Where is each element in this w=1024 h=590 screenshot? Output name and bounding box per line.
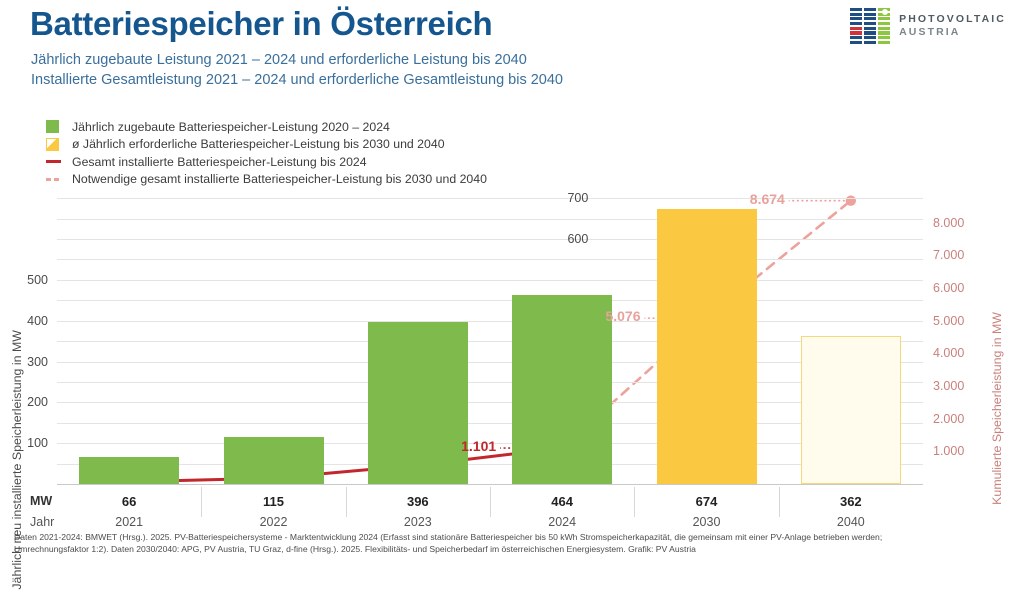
logo-cell xyxy=(878,36,890,39)
gridline xyxy=(57,239,923,240)
plot-area: 1002003004005006007001.0002.0003.0004.00… xyxy=(57,190,923,484)
logo-column-1 xyxy=(864,8,876,44)
y-tick-right-2000: 2.000 xyxy=(933,412,964,426)
gridline xyxy=(57,280,923,281)
logo-cell xyxy=(878,17,890,20)
logo-cell xyxy=(850,36,862,39)
table-cell-mw-2023: 396 xyxy=(407,494,429,509)
legend-swatch-shape xyxy=(46,120,59,133)
y-tick-left-600: 600 xyxy=(548,232,588,246)
y-tick-left-700: 700 xyxy=(548,191,588,205)
logo-text: PHOTOVOLTAIC AUSTRIA xyxy=(899,13,1006,39)
table-cell-year-2022: 2022 xyxy=(260,515,288,529)
legend-item-label: Jährlich zugebaute Batteriespeicher-Leis… xyxy=(72,120,390,134)
table-cell-year-2030: 2030 xyxy=(693,515,721,529)
logo-cell xyxy=(864,36,876,39)
legend-item-label: Gesamt installierte Batteriespeicher-Lei… xyxy=(72,155,367,169)
legend-item-2[interactable]: Gesamt installierte Batteriespeicher-Lei… xyxy=(46,153,487,171)
y-tick-right-7000: 7.000 xyxy=(933,248,964,262)
bar-2021[interactable] xyxy=(79,457,179,484)
logo-cell xyxy=(864,27,876,30)
footnote: Daten 2021-2024: BMWET (Hrsg.). 2025. PV… xyxy=(14,531,1014,555)
y-axis-right-title: Kumulierte Speicherleistung in MW xyxy=(990,312,1004,505)
y-tick-left-100: 100 xyxy=(27,436,48,450)
legend-item-label: ø Jährlich erforderliche Batteriespeiche… xyxy=(72,137,445,151)
y-tick-left-200: 200 xyxy=(27,395,48,409)
y-tick-right-8000: 8.000 xyxy=(933,216,964,230)
line-installed-cumulative xyxy=(129,448,562,482)
gridline xyxy=(57,219,923,220)
chart-legend: Jährlich zugebaute Batteriespeicher-Leis… xyxy=(46,118,487,188)
table-divider xyxy=(779,487,780,517)
y-tick-right-1000: 1.000 xyxy=(933,444,964,458)
logo-mark-icon xyxy=(850,8,890,44)
data-table: MW Jahr 66202111520223962023464202467420… xyxy=(0,484,1024,528)
gridline xyxy=(57,402,923,403)
table-cell-mw-2040: 362 xyxy=(840,494,862,509)
gridline xyxy=(57,321,923,322)
gridline xyxy=(57,341,923,342)
chart-page: Batteriespeicher in Österreich Jährlich … xyxy=(0,0,1024,561)
bar-2023[interactable] xyxy=(368,322,468,484)
logo-cell xyxy=(850,22,862,25)
logo-cell xyxy=(864,31,876,34)
gridline xyxy=(57,259,923,260)
bar-2040[interactable] xyxy=(801,336,901,484)
table-cell-year-2024: 2024 xyxy=(548,515,576,529)
row-label-mw: MW xyxy=(30,494,52,508)
table-divider xyxy=(201,487,202,517)
logo-cell xyxy=(850,31,862,34)
table-cell-mw-2021: 66 xyxy=(122,494,136,509)
gridline xyxy=(57,362,923,363)
gridline xyxy=(57,198,923,199)
logo-line-2: AUSTRIA xyxy=(899,26,1006,39)
y-tick-right-5000: 5.000 xyxy=(933,314,964,328)
gridline xyxy=(57,423,923,424)
logo-cell xyxy=(850,8,862,11)
logo-cell xyxy=(878,31,890,34)
logo-line-1: PHOTOVOLTAIC xyxy=(899,13,1006,26)
table-divider xyxy=(346,487,347,517)
bar-2030[interactable] xyxy=(657,209,757,484)
table-cell-mw-2030: 674 xyxy=(696,494,718,509)
logo-cell xyxy=(878,22,890,25)
row-label-jahr: Jahr xyxy=(30,515,54,529)
table-divider xyxy=(490,487,491,517)
table-cell-mw-2022: 115 xyxy=(263,494,284,509)
photovoltaic-austria-logo: PHOTOVOLTAIC AUSTRIA xyxy=(850,8,1006,44)
logo-sun-dot-icon xyxy=(882,9,888,15)
logo-column-0 xyxy=(850,8,862,44)
bar-2024[interactable] xyxy=(512,295,612,484)
logo-cell xyxy=(864,8,876,11)
y-tick-left-400: 400 xyxy=(27,314,48,328)
logo-cell xyxy=(878,41,890,44)
bar-2022[interactable] xyxy=(224,437,324,484)
data-label-5076: 5.076 xyxy=(605,308,640,324)
table-cell-year-2040: 2040 xyxy=(837,515,865,529)
logo-cell xyxy=(878,27,890,30)
page-title: Batteriespeicher in Österreich xyxy=(30,5,492,43)
legend-swatch-shape xyxy=(46,160,61,163)
data-label-8674: 8.674 xyxy=(750,191,785,207)
logo-cell xyxy=(850,13,862,16)
legend-swatch-line-solid-icon xyxy=(46,160,72,163)
logo-cell xyxy=(864,22,876,25)
gridline xyxy=(57,300,923,301)
data-label-1101: 1.101 xyxy=(461,438,496,454)
footnote-line-2: Umrechnungsfaktor 1:2). Daten 2030/2040:… xyxy=(14,543,1014,555)
legend-swatch-shape xyxy=(46,178,61,181)
y-tick-left-500: 500 xyxy=(27,273,48,287)
logo-cell xyxy=(864,17,876,20)
logo-cell xyxy=(850,27,862,30)
table-divider xyxy=(634,487,635,517)
footnote-line-1: Daten 2021-2024: BMWET (Hrsg.). 2025. PV… xyxy=(14,531,1014,543)
subtitle-line-2: Installierte Gesamtleistung 2021 – 2024 … xyxy=(31,72,563,88)
legend-swatch-swatch-green-icon xyxy=(46,120,72,133)
legend-item-3[interactable]: Notwendige gesamt installierte Batteries… xyxy=(46,171,487,189)
logo-cell xyxy=(850,17,862,20)
y-tick-right-4000: 4.000 xyxy=(933,346,964,360)
subtitle-line-1: Jährlich zugebaute Leistung 2021 – 2024 … xyxy=(31,52,527,68)
logo-cell xyxy=(864,13,876,16)
data-point-marker[interactable] xyxy=(846,195,856,205)
logo-column-2 xyxy=(878,8,890,44)
logo-cell xyxy=(864,41,876,44)
y-tick-right-3000: 3.000 xyxy=(933,379,964,393)
legend-swatch-swatch-yellow-icon xyxy=(46,138,72,151)
legend-swatch-shape xyxy=(46,138,59,151)
y-tick-left-300: 300 xyxy=(27,355,48,369)
legend-item-1[interactable]: ø Jährlich erforderliche Batteriespeiche… xyxy=(46,136,487,154)
legend-item-0[interactable]: Jährlich zugebaute Batteriespeicher-Leis… xyxy=(46,118,487,136)
table-cell-year-2021: 2021 xyxy=(115,515,143,529)
legend-swatch-line-dashed-icon xyxy=(46,178,72,181)
legend-item-label: Notwendige gesamt installierte Batteries… xyxy=(72,172,487,186)
logo-cell xyxy=(850,41,862,44)
gridline xyxy=(57,382,923,383)
y-tick-right-6000: 6.000 xyxy=(933,281,964,295)
gridline xyxy=(57,464,923,465)
table-cell-year-2023: 2023 xyxy=(404,515,432,529)
table-cell-mw-2024: 464 xyxy=(551,494,573,509)
